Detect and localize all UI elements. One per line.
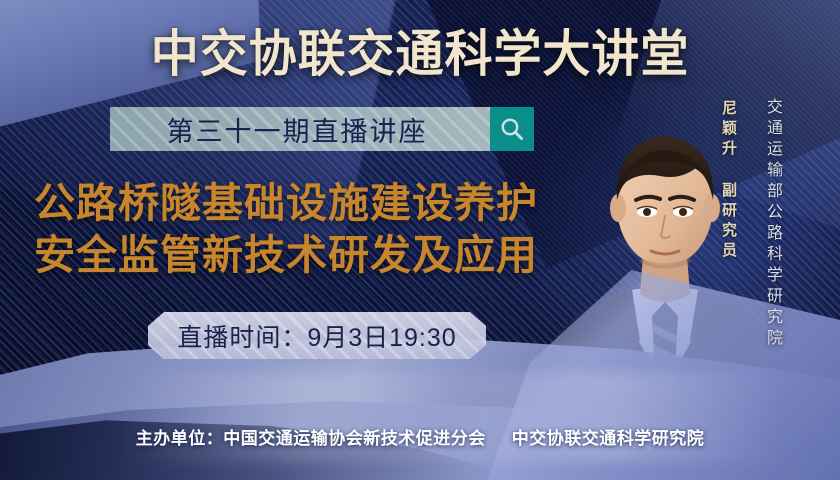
lecture-topic-line1: 公路桥隧基础设施建设养护 <box>34 178 579 230</box>
speaker-name-title: 尼颖升 副研究员 <box>718 100 739 262</box>
broadcast-time-badge: 直播时间：9月3日19:30 <box>148 312 486 359</box>
search-icon <box>499 116 525 142</box>
speaker-organization: 交通运输部公路科学研究院 <box>760 98 784 350</box>
lecture-topic: 公路桥隧基础设施建设养护 安全监管新技术研发及应用 <box>34 178 579 281</box>
footer-organizer: 主办单位：中国交通运输协会新技术促进分会 <box>136 429 486 448</box>
footer-institute: 中交协联交通科学研究院 <box>512 429 705 448</box>
lecture-topic-line2: 安全监管新技术研发及应用 <box>34 230 579 282</box>
livestream-poster: 中交协联交通科学大讲堂 第三十一期直播讲座 公路桥隧基础设施建设养护 安全监管新… <box>0 0 840 480</box>
episode-label: 第三十一期直播讲座 <box>110 107 490 151</box>
broadcast-time-label: 直播时间：9月3日19:30 <box>177 318 456 354</box>
page-title: 中交协联交通科学大讲堂 <box>17 14 823 86</box>
episode-bar: 第三十一期直播讲座 <box>110 107 534 151</box>
footer-organizers: 主办单位：中国交通运输协会新技术促进分会中交协联交通科学研究院 <box>0 424 840 449</box>
search-button[interactable] <box>490 107 534 151</box>
